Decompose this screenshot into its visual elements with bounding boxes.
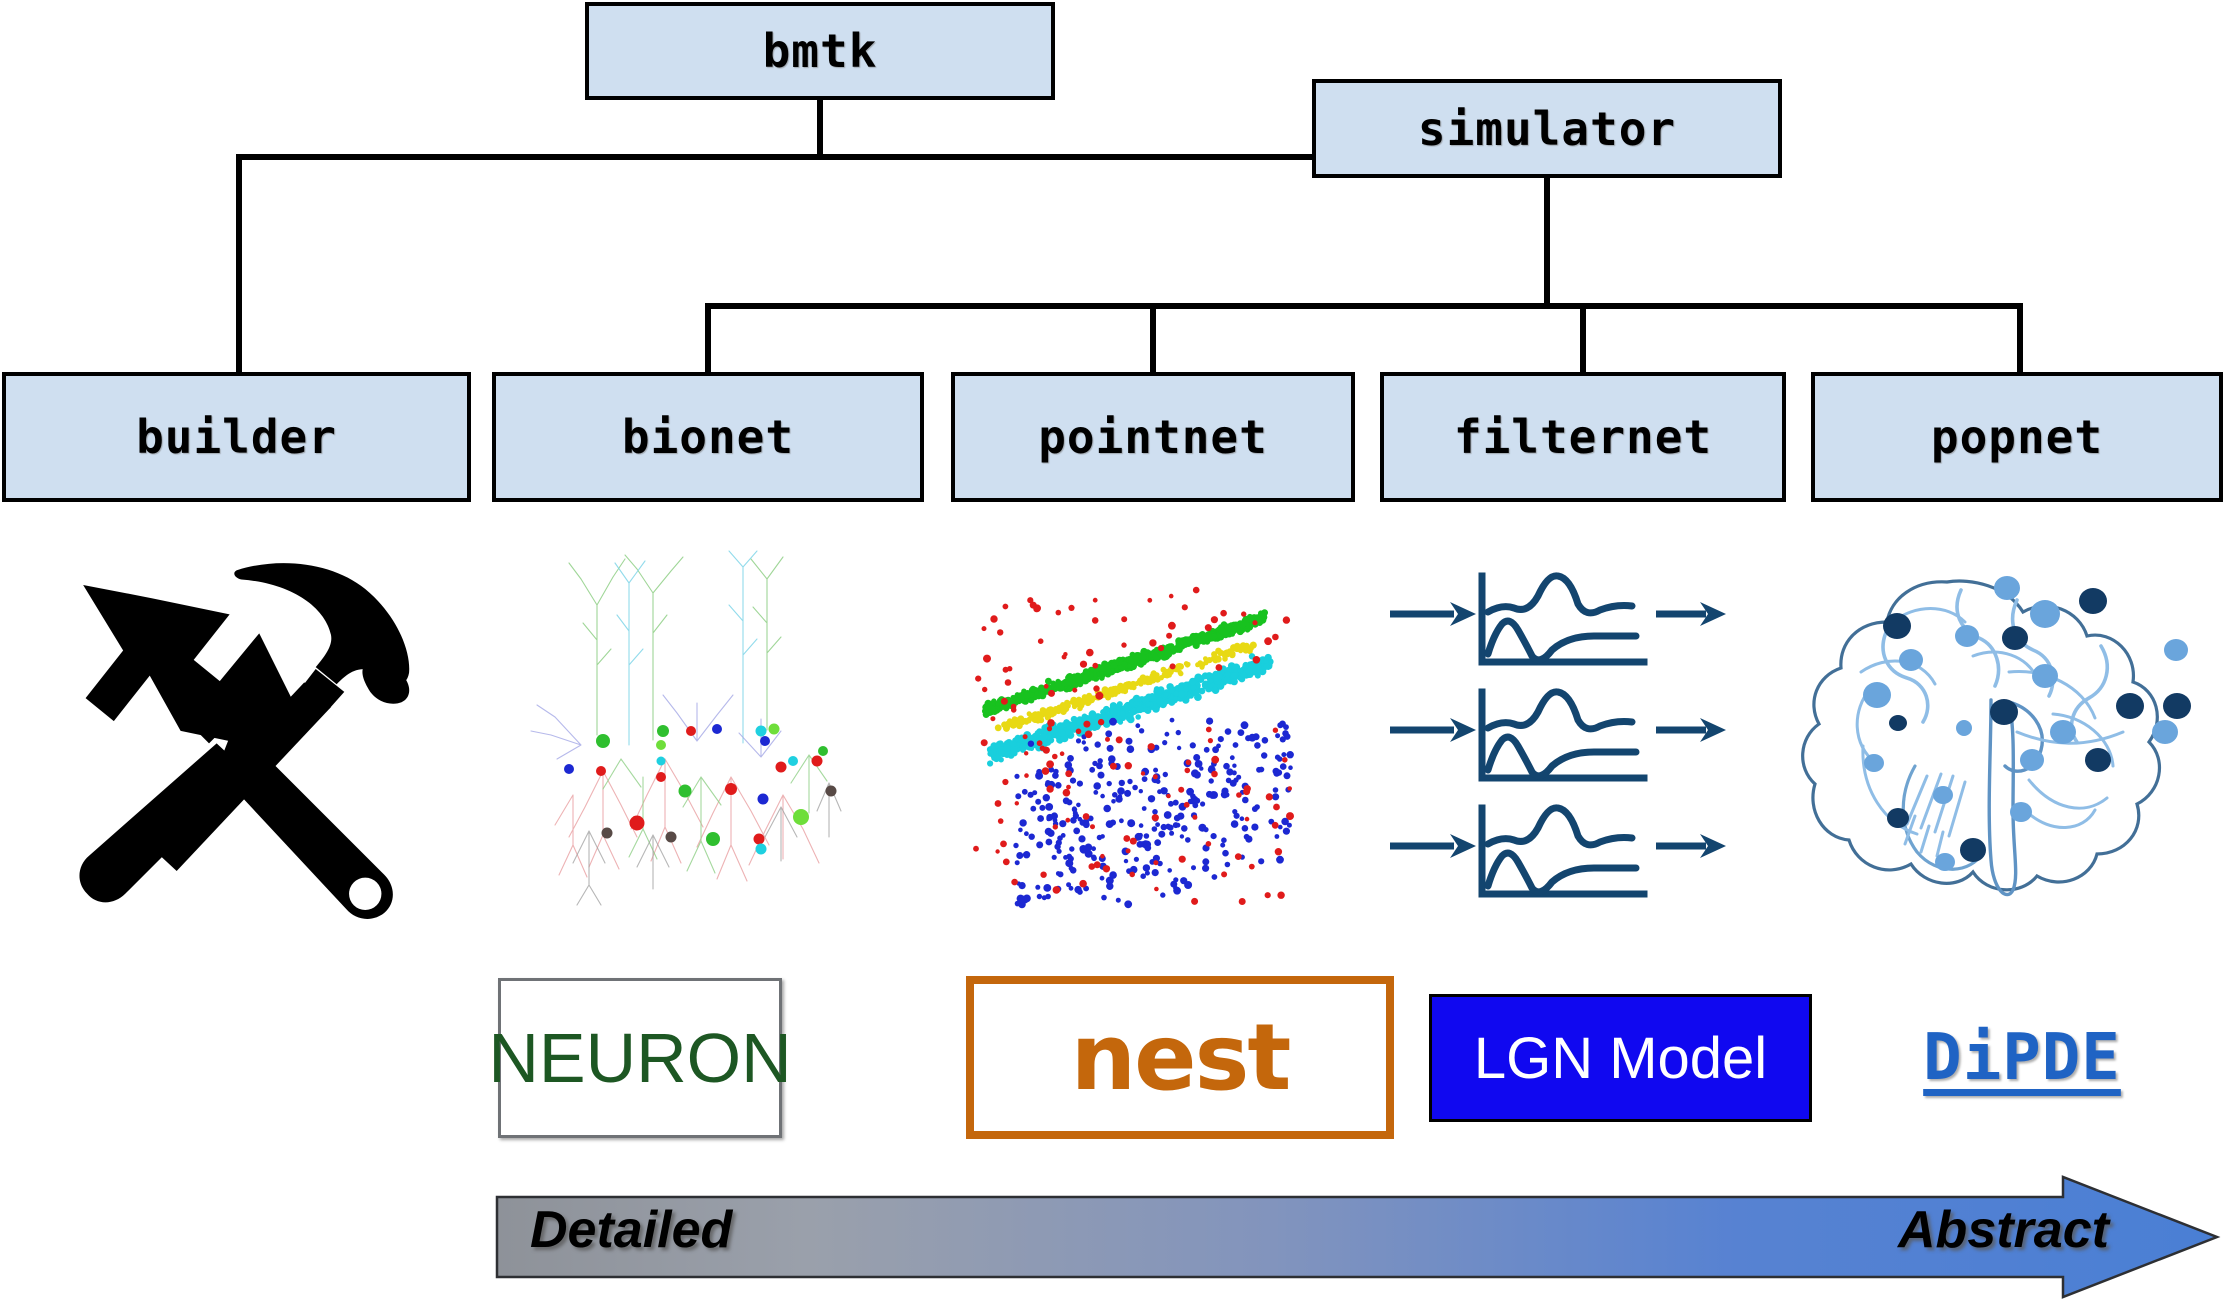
icon-cell-builder — [20, 530, 440, 930]
axis-label-detailed: Detailed — [530, 1200, 732, 1260]
neuron-morphology-icon — [525, 545, 875, 935]
icon-cell-popnet — [1760, 555, 2220, 925]
connector-builder-drop — [236, 154, 242, 374]
backend-badge-neuron[interactable]: NEURON — [498, 978, 782, 1138]
node-bmtk-label: bmtk — [763, 24, 878, 78]
node-builder[interactable]: builder — [2, 372, 471, 502]
node-pointnet[interactable]: pointnet — [951, 372, 1355, 502]
backend-label-dipde: DiPDE — [1923, 1021, 2121, 1095]
connector-bmtk-stub — [817, 98, 823, 158]
node-simulator[interactable]: simulator — [1312, 79, 1782, 178]
backend-label-neuron: NEURON — [488, 1018, 791, 1098]
connector-filternet-drop — [1580, 303, 1586, 375]
backend-badge-nest[interactable]: nest — [966, 976, 1394, 1139]
filter-channel-3 — [1390, 807, 1726, 893]
point-cloud-icon — [955, 570, 1305, 910]
diagram-canvas: bmtk simulator builder bionet pointnet f… — [0, 0, 2223, 1299]
node-bionet[interactable]: bionet — [492, 372, 924, 502]
icon-cell-filternet — [1385, 565, 1730, 910]
node-popnet-label: popnet — [1931, 410, 2103, 464]
hammer-wrench-icon — [30, 539, 430, 921]
backend-label-nest: nest — [1071, 1004, 1290, 1111]
icon-cell-bionet — [520, 540, 880, 940]
icon-cell-pointnet — [950, 560, 1310, 920]
backend-badge-dipde[interactable]: DiPDE — [1872, 994, 2172, 1122]
filter-channel-1 — [1390, 575, 1726, 661]
node-popnet[interactable]: popnet — [1811, 372, 2223, 502]
backend-badge-lgn-model[interactable]: LGN Model — [1429, 994, 1812, 1122]
node-bmtk[interactable]: bmtk — [585, 2, 1055, 100]
axis-label-abstract: Abstract — [1898, 1200, 2109, 1260]
node-pointnet-label: pointnet — [1038, 410, 1268, 464]
node-builder-label: builder — [136, 410, 337, 464]
node-filternet[interactable]: filternet — [1380, 372, 1786, 502]
connector-top-bus — [236, 154, 1320, 160]
connector-bionet-drop — [705, 303, 711, 375]
brain-network-icon — [1765, 560, 2215, 920]
filter-response-icon — [1388, 568, 1728, 908]
node-filternet-label: filternet — [1454, 410, 1712, 464]
connector-simulator-stub — [1544, 178, 1550, 306]
backend-label-lgn-model: LGN Model — [1474, 1025, 1767, 1092]
connector-simulator-bus — [705, 303, 2020, 309]
connector-pointnet-drop — [1150, 303, 1156, 375]
node-simulator-label: simulator — [1418, 102, 1676, 156]
node-bionet-label: bionet — [622, 410, 794, 464]
connector-popnet-drop — [2017, 303, 2023, 375]
filter-channel-2 — [1390, 691, 1726, 777]
